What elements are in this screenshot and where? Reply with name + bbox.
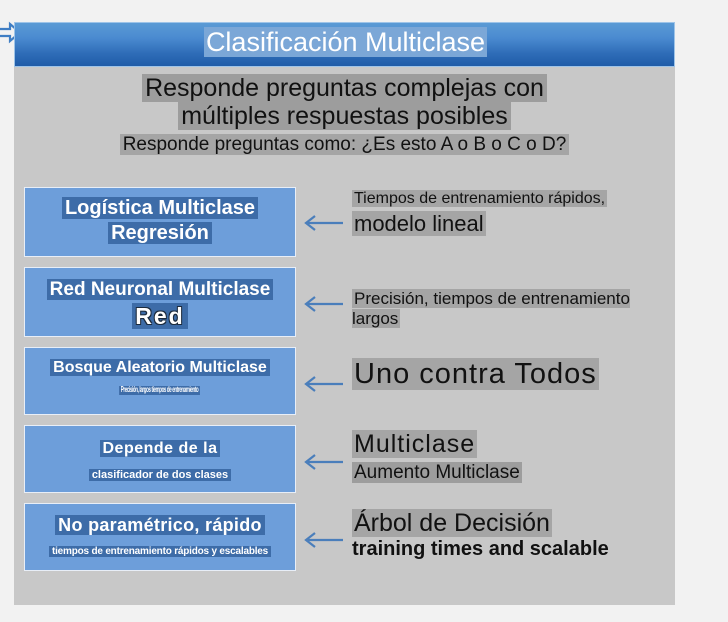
row-note-line-1: Precisión, tiempos de entrenamiento larg… — [352, 289, 672, 329]
algorithm-box[interactable]: Depende de la clasificador de dos clases — [24, 425, 296, 493]
row-note-line-1: Árbol de Decisión — [352, 509, 672, 538]
row-note: Uno contra Todos — [352, 358, 672, 391]
algorithm-box-line-1: Logística Multiclase — [25, 197, 295, 220]
subtitle-line-3: Responde preguntas como: ¿Es esto A o B … — [14, 134, 675, 156]
arrow-left-icon — [302, 531, 344, 549]
row-note: Precisión, tiempos de entrenamiento larg… — [352, 289, 672, 329]
slide-canvas: Clasificación Multiclase Responde pregun… — [14, 22, 675, 605]
row-note: Tiempos de entrenamiento rápidos, modelo… — [352, 190, 672, 237]
algorithm-box[interactable]: Logística Multiclase Regresión — [24, 187, 296, 257]
algorithm-box-line-2: Precisión, largos tiempos de entrenamien… — [25, 386, 295, 395]
algorithm-box-line-2: Regresión — [25, 222, 295, 244]
row-note-line-2: modelo lineal — [352, 211, 672, 237]
arrow-left-icon — [302, 214, 344, 232]
algorithm-box-line-2: Red — [25, 304, 295, 329]
subtitle-line-2: múltiples respuestas posibles — [14, 102, 675, 131]
arrow-left-icon — [302, 295, 344, 313]
algorithm-box[interactable]: No paramétrico, rápido tiempos de entren… — [24, 503, 296, 571]
slide-header: Clasificación Multiclase — [14, 22, 675, 67]
algorithm-box-line-1: Depende de la — [25, 440, 295, 458]
subtitle-line-2-text: múltiples respuestas posibles — [178, 102, 511, 130]
subtitle-line-1: Responde preguntas complejas con — [14, 74, 675, 103]
algorithm-box[interactable]: Red Neuronal Multiclase Red — [24, 267, 296, 337]
row-note-line-2: training times and scalable — [352, 538, 672, 561]
arrow-left-icon — [302, 375, 344, 393]
arrow-left-icon — [302, 453, 344, 471]
row-note-line-1: Multiclase — [352, 430, 672, 459]
subtitle-line-3-text: Responde preguntas como: ¿Es esto A o B … — [120, 134, 570, 155]
row-note: Multiclase Aumento Multiclase — [352, 430, 672, 484]
row-note: Árbol de Decisión training times and sca… — [352, 509, 672, 561]
algorithm-box-line-1: Bosque Aleatorio Multiclase — [25, 359, 295, 377]
subtitle-line-1-text: Responde preguntas complejas con — [142, 74, 547, 102]
row-note-line-1: Uno contra Todos — [352, 358, 672, 391]
algorithm-box-line-2: clasificador de dos clases — [25, 469, 295, 481]
algorithm-box-line-2: tiempos de entrenamiento rápidos y escal… — [25, 546, 295, 557]
row-note-line-2: Aumento Multiclase — [352, 462, 672, 484]
row-note-line-1: Tiempos de entrenamiento rápidos, — [352, 190, 672, 208]
algorithm-box[interactable]: Bosque Aleatorio Multiclase Precisión, l… — [24, 347, 296, 415]
algorithm-box-line-1: No paramétrico, rápido — [25, 515, 295, 536]
page-title: Clasificación Multiclase — [15, 27, 676, 58]
page-title-text: Clasificación Multiclase — [204, 27, 487, 57]
algorithm-box-line-1: Red Neuronal Multiclase — [25, 279, 295, 301]
